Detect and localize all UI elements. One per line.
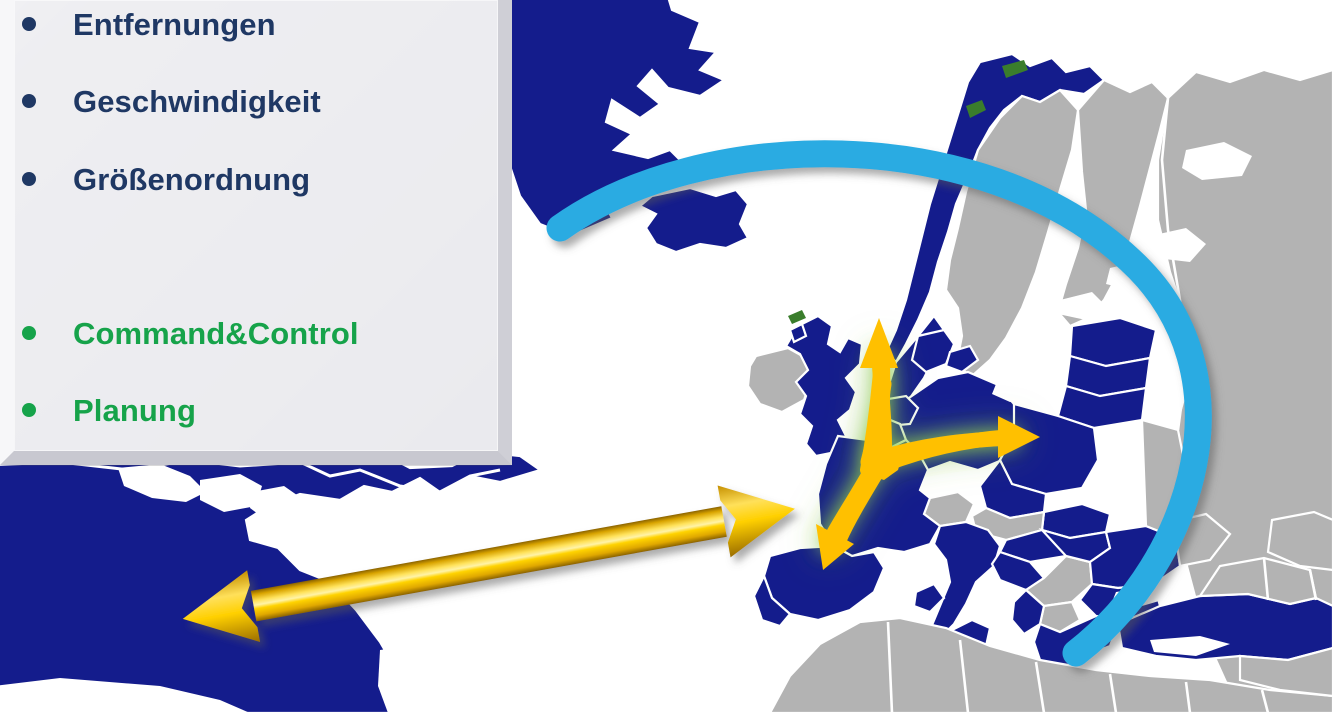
bullet-label: Planung bbox=[73, 395, 196, 426]
bullet-dot-icon bbox=[22, 326, 36, 340]
bullet-dot-icon bbox=[22, 403, 36, 417]
bullet-label: Entfernungen bbox=[73, 9, 276, 40]
bullet-dot-icon bbox=[22, 94, 36, 108]
bullet-dot-icon bbox=[22, 172, 36, 186]
bullet-item-command-and-control[interactable]: Command&Control bbox=[14, 307, 498, 359]
bullet-item-geschwindigkeit[interactable]: Geschwindigkeit bbox=[14, 75, 498, 127]
bullet-label: Geschwindigkeit bbox=[73, 86, 321, 117]
bullet-label: Größenordnung bbox=[73, 164, 310, 195]
bullet-item-entfernungen[interactable]: Entfernungen bbox=[14, 0, 498, 50]
bullet-label: Command&Control bbox=[73, 318, 359, 349]
slide-canvas: .nato { fill:#141C8C; stroke:#ffffff; st… bbox=[0, 0, 1333, 713]
bullet-item-planung[interactable]: Planung bbox=[14, 384, 498, 436]
bullet-list: Entfernungen Geschwindigkeit Größenordnu… bbox=[0, 0, 512, 465]
region-iceland bbox=[640, 188, 748, 252]
bullet-dot-icon bbox=[22, 17, 36, 31]
region-baltic-states bbox=[1058, 318, 1156, 428]
bullet-item-groessenordnung[interactable]: Größenordnung bbox=[14, 153, 498, 205]
bullet-panel: Entfernungen Geschwindigkeit Größenordnu… bbox=[0, 0, 512, 466]
